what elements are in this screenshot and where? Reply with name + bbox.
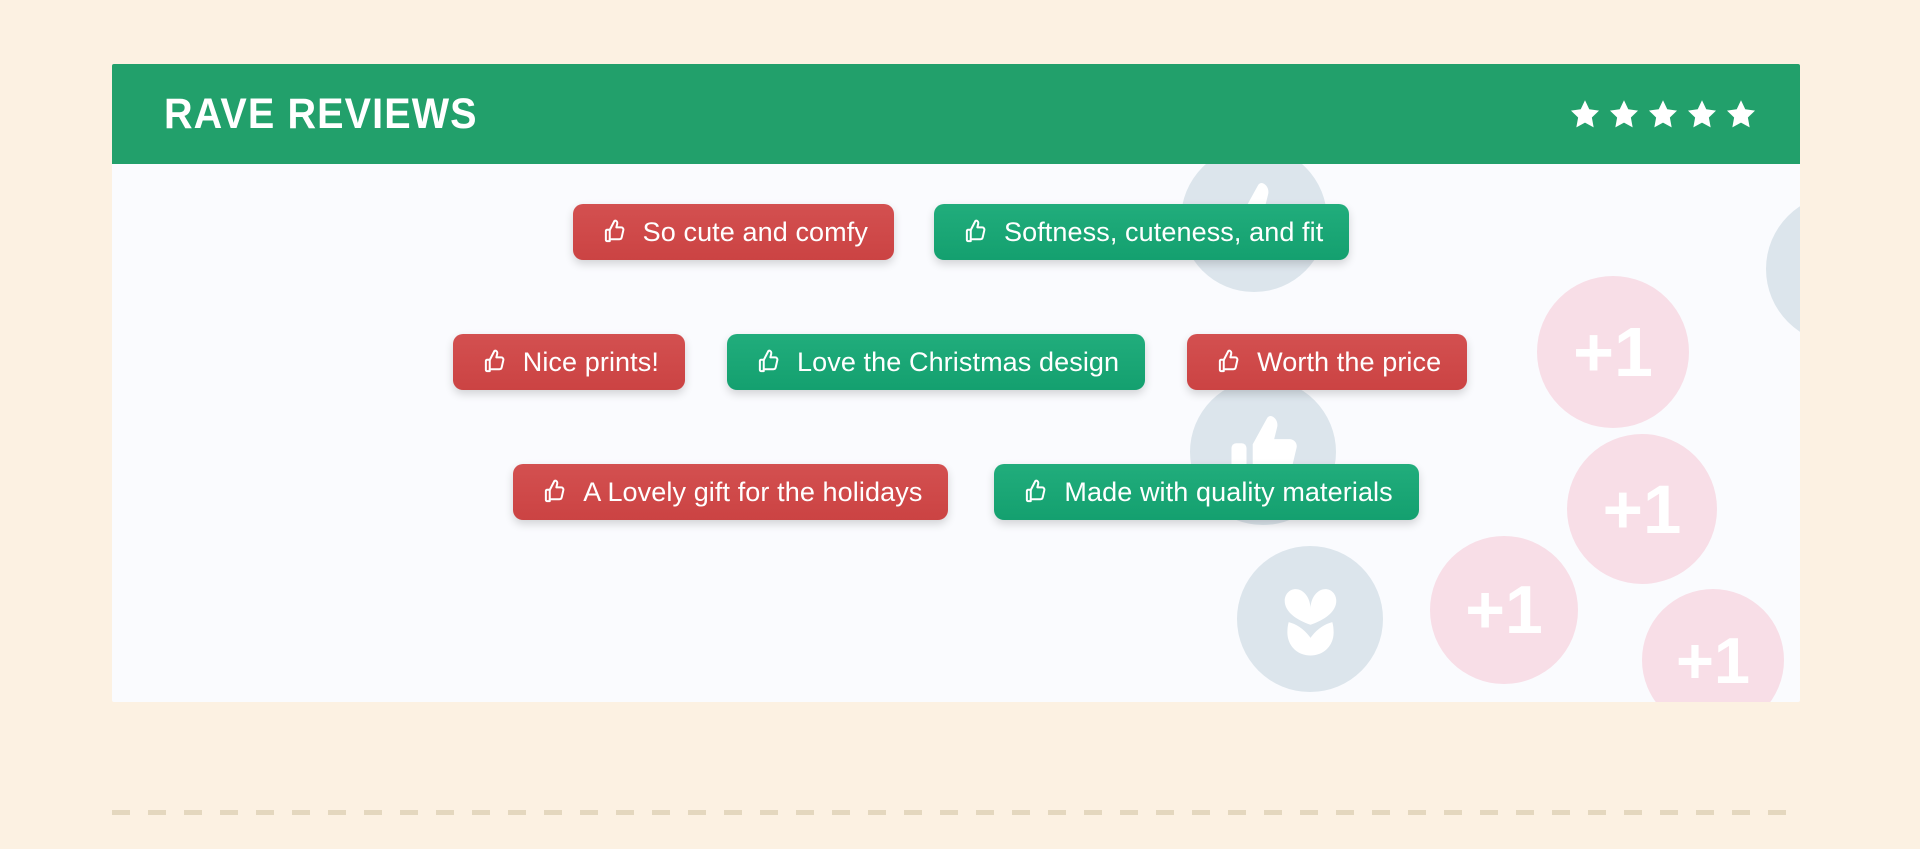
review-pill[interactable]: A Lovely gift for the holidays	[513, 464, 948, 520]
star-icon	[1646, 98, 1680, 131]
card-body: +1 +1 +1+1 So cute and comfy Softness, c…	[112, 164, 1800, 702]
rating-stars	[1568, 98, 1758, 131]
dashed-divider	[112, 810, 1802, 815]
review-pill[interactable]: So cute and comfy	[573, 204, 894, 260]
thumbs-up-icon	[599, 217, 629, 247]
star-icon	[1607, 98, 1641, 131]
review-pill-rows: So cute and comfy Softness, cuteness, an…	[112, 164, 1800, 702]
review-pill-label: Nice prints!	[523, 347, 659, 378]
rave-reviews-card: RAVE REVIEWS +1 +1 +1+1 So cute and comf…	[112, 64, 1800, 702]
star-icon	[1568, 98, 1602, 131]
review-pill[interactable]: Love the Christmas design	[727, 334, 1145, 390]
review-pill-label: Softness, cuteness, and fit	[1004, 217, 1323, 248]
thumbs-up-icon	[479, 347, 509, 377]
review-pill-label: So cute and comfy	[643, 217, 868, 248]
thumbs-up-icon	[539, 477, 569, 507]
thumbs-up-icon	[1213, 347, 1243, 377]
star-icon	[1724, 98, 1758, 131]
thumbs-up-icon	[960, 217, 990, 247]
star-icon	[1685, 98, 1719, 131]
card-header: RAVE REVIEWS	[112, 64, 1800, 164]
review-pill-label: Worth the price	[1257, 347, 1441, 378]
page-title: RAVE REVIEWS	[164, 90, 478, 139]
review-pill[interactable]: Made with quality materials	[994, 464, 1418, 520]
thumbs-up-icon	[1020, 477, 1050, 507]
review-pill[interactable]: Softness, cuteness, and fit	[934, 204, 1349, 260]
review-pill-label: A Lovely gift for the holidays	[583, 477, 922, 508]
review-pill-label: Love the Christmas design	[797, 347, 1119, 378]
thumbs-up-icon	[753, 347, 783, 377]
review-pill[interactable]: Nice prints!	[453, 334, 685, 390]
review-pill-label: Made with quality materials	[1064, 477, 1392, 508]
review-row: A Lovely gift for the holidays Made with…	[112, 464, 1800, 520]
review-row: Nice prints! Love the Christmas design W…	[112, 334, 1800, 390]
review-row: So cute and comfy Softness, cuteness, an…	[112, 204, 1800, 260]
review-pill[interactable]: Worth the price	[1187, 334, 1467, 390]
